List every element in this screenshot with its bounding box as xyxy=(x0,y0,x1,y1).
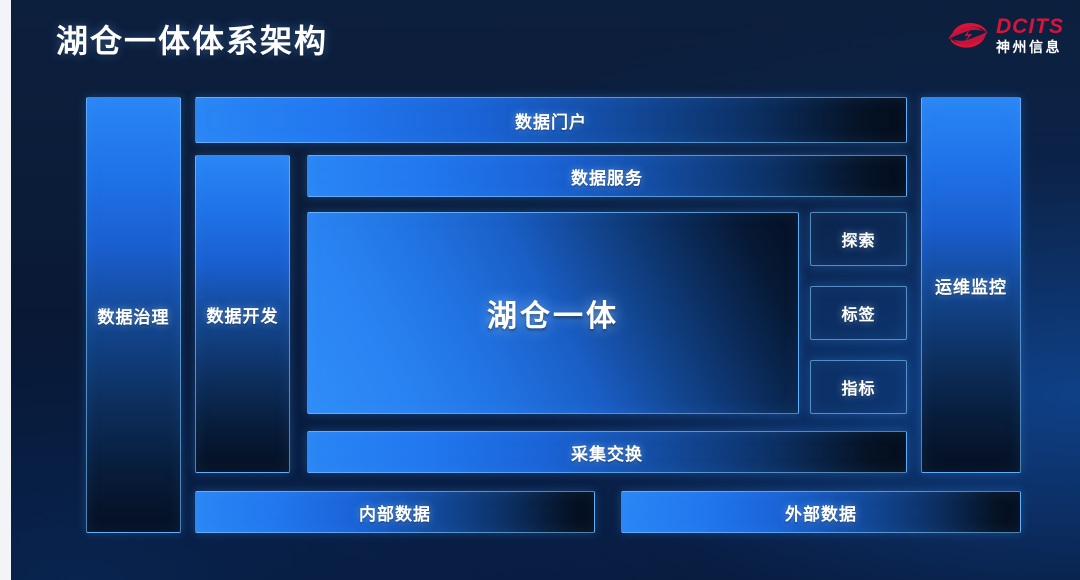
block-collection-exchange[interactable]: 采集交换 xyxy=(307,431,907,473)
block-data-governance[interactable]: 数据治理 xyxy=(86,97,181,533)
block-lakehouse-core[interactable]: 湖仓一体 xyxy=(307,212,799,414)
block-data-portal[interactable]: 数据门户 xyxy=(195,97,907,143)
block-external-data[interactable]: 外部数据 xyxy=(621,491,1021,533)
dcits-swirl-icon xyxy=(947,18,989,52)
block-explore[interactable]: 探索 xyxy=(810,212,907,266)
block-label: 数据服务 xyxy=(571,164,643,189)
block-ops-monitoring[interactable]: 运维监控 xyxy=(921,97,1021,473)
block-data-development[interactable]: 数据开发 xyxy=(195,155,290,473)
block-label: 探索 xyxy=(841,227,875,251)
block-label: 指标 xyxy=(841,375,875,399)
brand-logo: DCITS 神州信息 xyxy=(947,12,1064,58)
block-label: 采集交换 xyxy=(571,440,643,465)
slide-root: 湖仓一体体系架构 DCITS 神州信息 数据治理 数据开发 xyxy=(0,0,1080,580)
block-label: 运维监控 xyxy=(935,273,1007,298)
logo-wordmark: DCITS 神州信息 xyxy=(996,16,1064,54)
block-label: 数据治理 xyxy=(98,303,170,328)
block-label: 外部数据 xyxy=(785,500,857,525)
block-metrics[interactable]: 指标 xyxy=(810,360,907,414)
page-title: 湖仓一体体系架构 xyxy=(56,16,328,62)
logo-chinese: 神州信息 xyxy=(996,40,1064,54)
block-tags[interactable]: 标签 xyxy=(810,286,907,340)
block-label: 内部数据 xyxy=(359,500,431,525)
block-label: 数据开发 xyxy=(207,302,279,327)
block-label: 湖仓一体 xyxy=(487,291,619,335)
logo-english: DCITS xyxy=(996,16,1064,37)
block-internal-data[interactable]: 内部数据 xyxy=(195,491,595,533)
block-data-service[interactable]: 数据服务 xyxy=(307,155,907,197)
block-label: 标签 xyxy=(841,301,875,325)
slide-canvas: 湖仓一体体系架构 DCITS 神州信息 数据治理 数据开发 xyxy=(11,0,1080,580)
block-label: 数据门户 xyxy=(515,108,587,133)
